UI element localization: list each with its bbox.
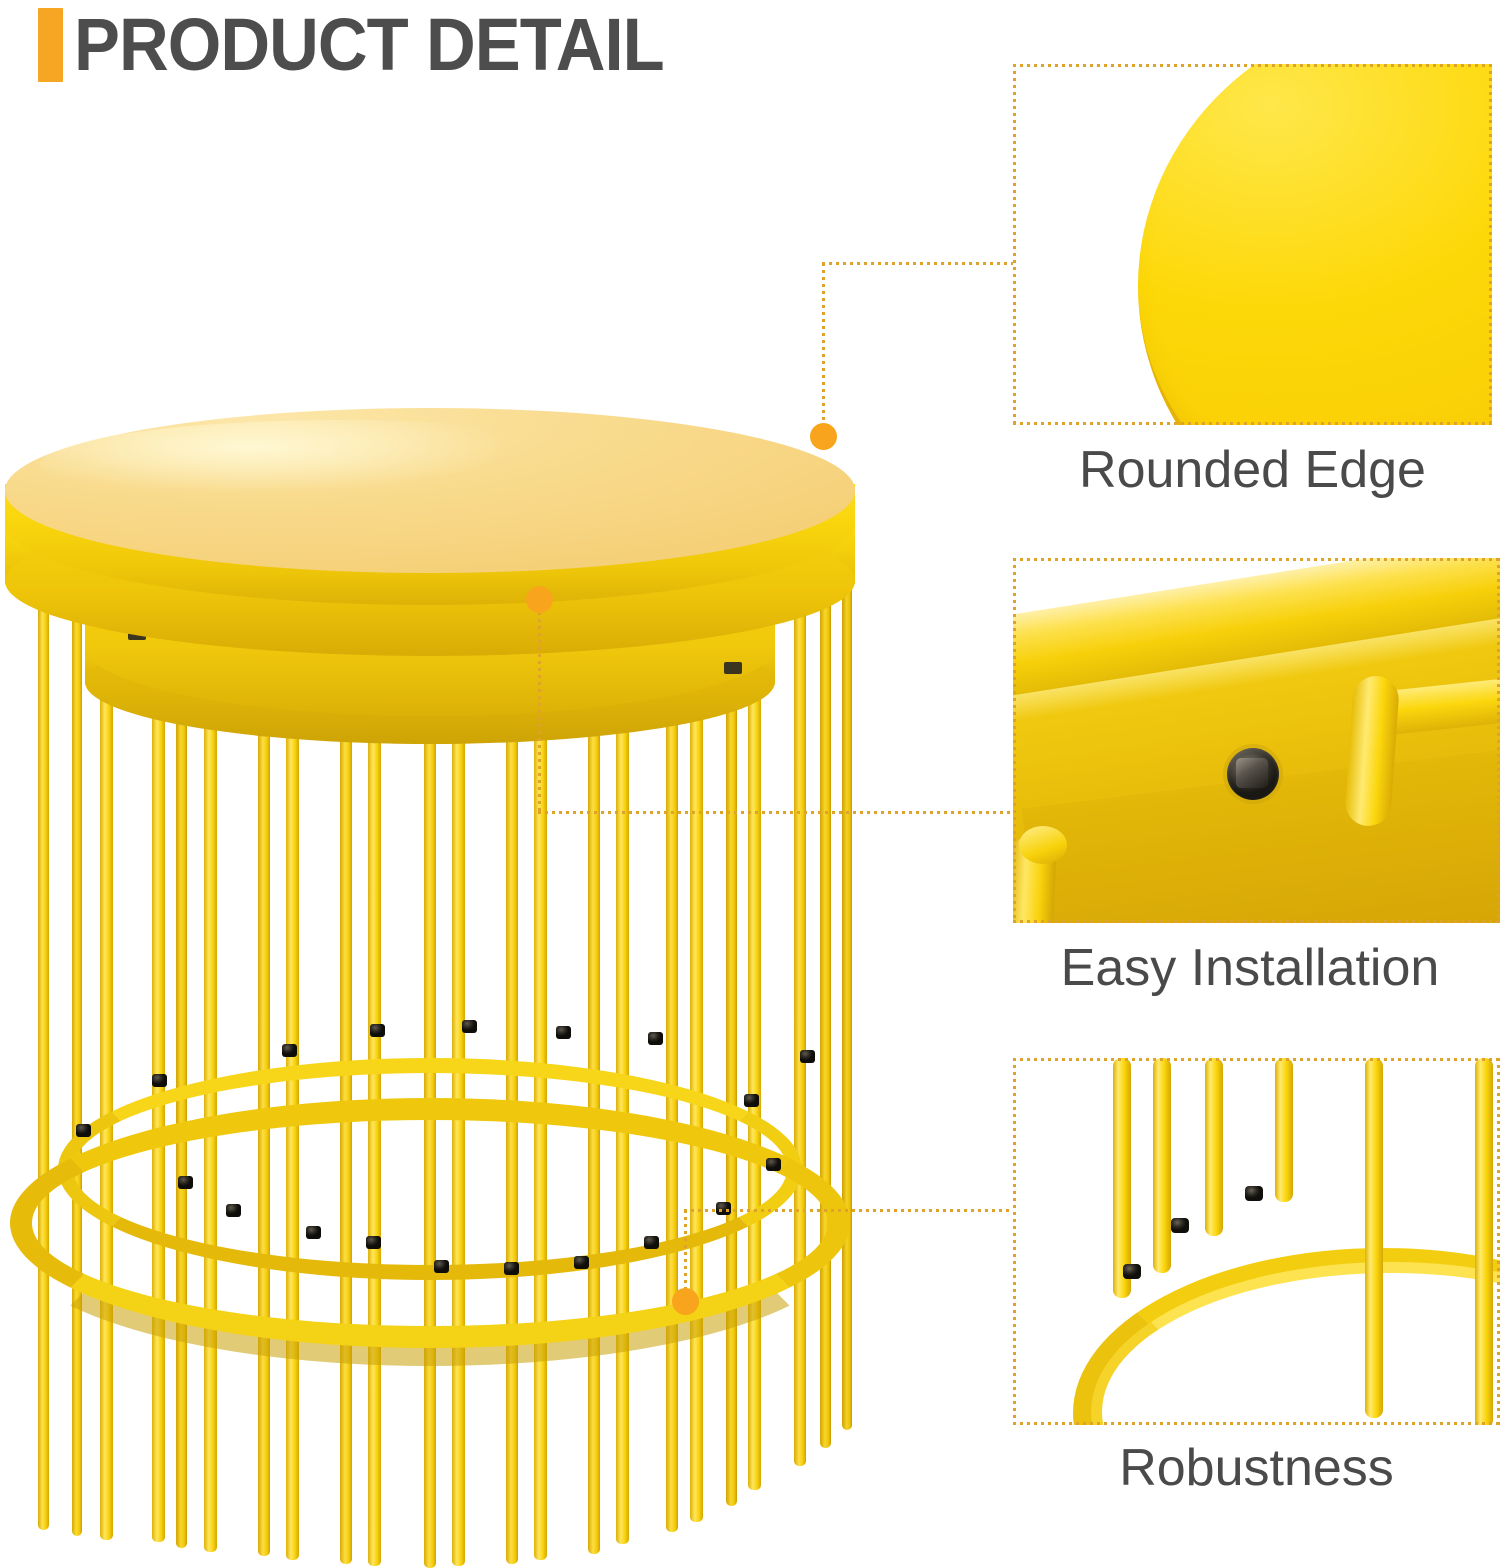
hex-screw-icon	[1227, 748, 1279, 800]
base-bolt	[462, 1020, 477, 1033]
base-bolt	[226, 1204, 241, 1217]
base-bolt	[1245, 1186, 1263, 1201]
base-bolt	[178, 1176, 193, 1189]
table-top-highlight	[40, 420, 640, 510]
base-bolt	[152, 1074, 167, 1087]
base-bolt	[744, 1094, 759, 1107]
leg-joint-cap	[1019, 826, 1067, 864]
callout-marker-rounded-edge	[810, 423, 837, 450]
base-bolt	[76, 1124, 91, 1137]
base-bolt	[766, 1158, 781, 1171]
leg-bar	[1475, 1058, 1493, 1425]
detail-panel-rounded-edge	[1013, 64, 1492, 425]
leg-bar	[1205, 1058, 1223, 1236]
base-ring-outer	[10, 1098, 850, 1348]
page-title: PRODUCT DETAIL	[74, 2, 664, 88]
leg-bar	[1153, 1058, 1171, 1273]
base-bolt	[504, 1262, 519, 1275]
callout-marker-robustness	[672, 1288, 699, 1315]
base-bolt	[648, 1032, 663, 1045]
detail-panel-easy-installation	[1013, 558, 1500, 923]
base-bolt	[1171, 1218, 1189, 1233]
leg-bar	[1365, 1058, 1383, 1418]
base-hoop-inner	[1091, 1262, 1500, 1425]
base-bolt	[366, 1236, 381, 1249]
apron-bolt	[724, 662, 742, 674]
tabletop-disc-edge	[1138, 64, 1492, 425]
hex-screw-head	[1236, 758, 1268, 788]
product-photo	[0, 380, 900, 1440]
base-bolt	[306, 1226, 321, 1239]
base-bolt	[574, 1256, 589, 1269]
base-bolt	[556, 1026, 571, 1039]
base-bolt	[800, 1050, 815, 1063]
base-bolt	[644, 1236, 659, 1249]
base-bolt	[370, 1024, 385, 1037]
header: PRODUCT DETAIL	[0, 0, 900, 110]
caption-rounded-edge: Rounded Edge	[1013, 440, 1492, 500]
callout-marker-easy-installation	[526, 586, 553, 613]
caption-robustness: Robustness	[1013, 1438, 1500, 1498]
base-bolt	[282, 1044, 297, 1057]
base-bolt	[434, 1260, 449, 1273]
detail-panel-robustness	[1013, 1058, 1500, 1425]
base-bolt	[1123, 1264, 1141, 1279]
leg-bar	[1113, 1058, 1131, 1298]
accent-bar	[38, 8, 63, 82]
caption-easy-installation: Easy Installation	[1000, 938, 1500, 998]
leg-bar	[1275, 1058, 1293, 1202]
